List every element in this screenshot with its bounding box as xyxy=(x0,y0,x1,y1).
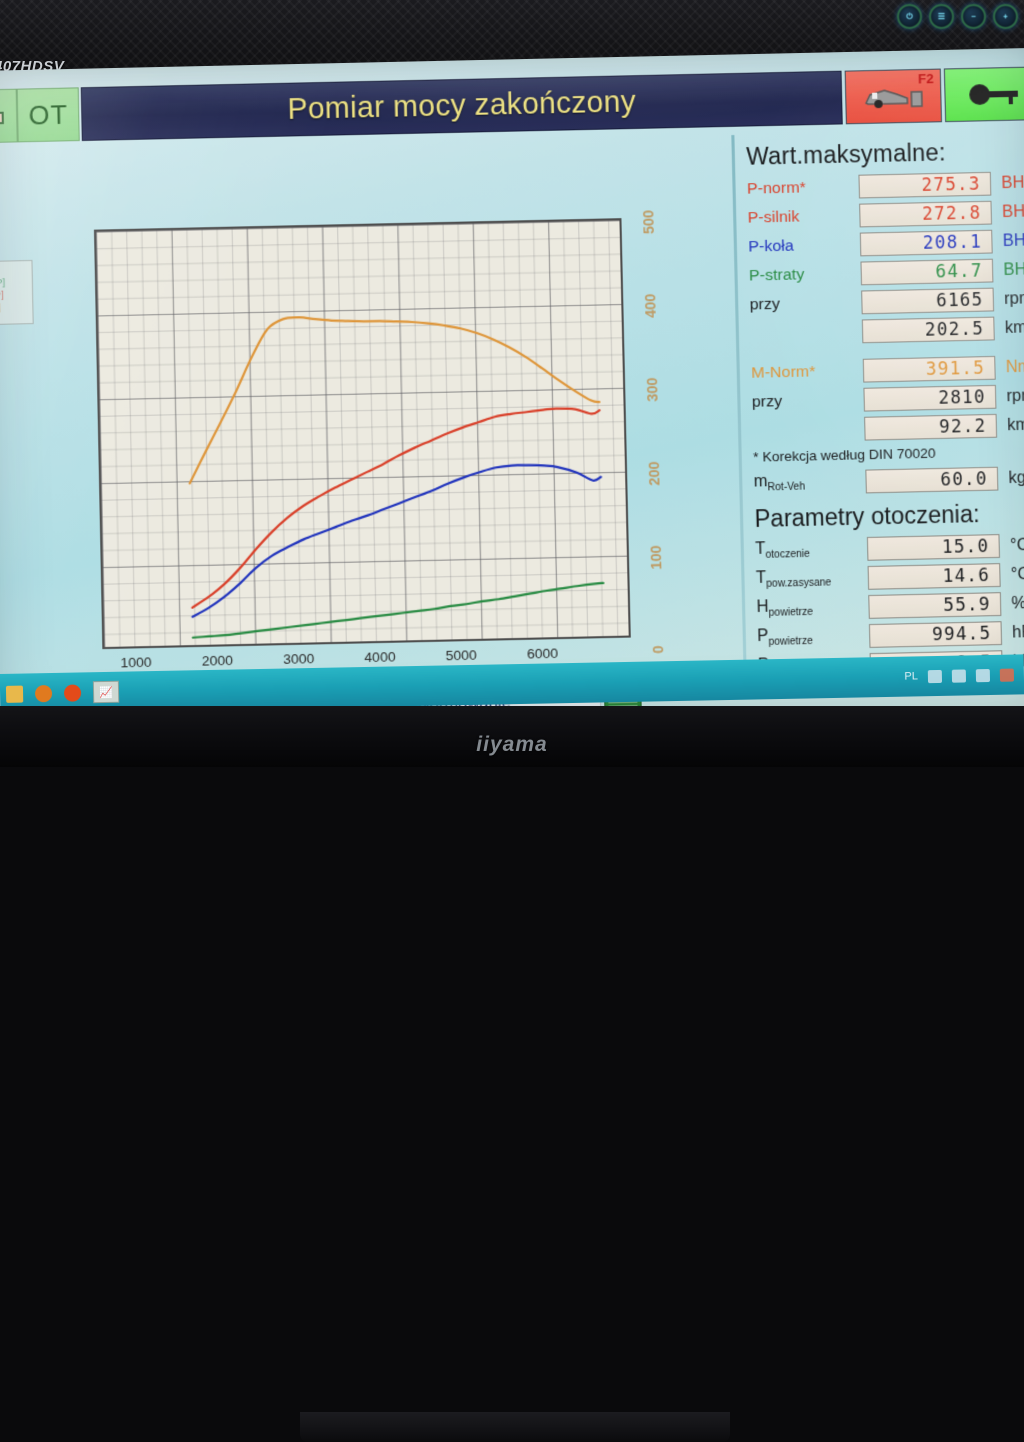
y-tick-400: 400 xyxy=(642,294,659,319)
ambient-row: Totoczenie15.0°C xyxy=(755,532,1024,564)
power-unit: BHP xyxy=(1003,260,1024,279)
torque-label: przy xyxy=(752,390,864,411)
ambient-label: Totoczenie xyxy=(755,538,867,561)
media-icon[interactable] xyxy=(35,685,52,702)
power-row: P-norm*275.3BHP xyxy=(747,170,1024,202)
plus-button[interactable]: + xyxy=(993,4,1018,29)
engine-icon xyxy=(0,89,18,144)
rotating-mass-unit: kg xyxy=(1008,469,1024,488)
ambient-row: Tpow.zasysane14.6°C xyxy=(756,561,1024,593)
rotating-mass-label: mRot-Veh xyxy=(754,471,866,494)
curve-p-koła xyxy=(190,463,604,616)
power-unit: rpm xyxy=(1004,289,1024,308)
ambient-value[interactable]: 15.0 xyxy=(867,534,1000,561)
dyno-plot xyxy=(94,218,631,649)
ambient-row: Ppowietrze994.5hPa xyxy=(757,619,1024,651)
torque-value[interactable]: 391.5 xyxy=(863,356,996,383)
car-icon xyxy=(861,81,926,111)
torque-label: M-Norm* xyxy=(751,361,863,382)
x-tick-1000: 1000 xyxy=(120,654,151,670)
legend-item-p-norm: P-norm [BHP] xyxy=(0,289,28,302)
legend-item-p-straty: P-straty [BHP] xyxy=(0,277,28,290)
ambient-value[interactable]: 55.9 xyxy=(868,592,1001,619)
torque-row: 92.2km/h xyxy=(752,412,1024,444)
signal-icon[interactable] xyxy=(976,668,990,681)
results-panel: Wart.maksymalne: P-norm*275.3BHPP-silnik… xyxy=(731,128,1024,673)
rotating-mass-row: mRot-Veh 60.0 kg xyxy=(753,465,1024,497)
volume-icon[interactable] xyxy=(952,669,966,682)
chart-panel: P-koła [BHP] P-straty [BHP] P-norm [BHP]… xyxy=(0,133,737,719)
key-button[interactable] xyxy=(944,66,1024,122)
torque-value[interactable]: 2810 xyxy=(863,385,996,412)
power-unit: BHP xyxy=(1002,202,1024,221)
power-unit: km/h xyxy=(1005,318,1024,337)
f2-key-label: F2 xyxy=(918,71,934,87)
power-label xyxy=(750,331,862,333)
y-tick-200: 200 xyxy=(646,461,663,486)
y-tick-0: 0 xyxy=(650,645,667,653)
torque-label xyxy=(753,429,865,431)
torque-value[interactable]: 92.2 xyxy=(864,414,997,441)
x-tick-4000: 4000 xyxy=(364,649,395,665)
x-tick-3000: 3000 xyxy=(283,651,314,667)
rotating-mass-value[interactable]: 60.0 xyxy=(865,467,998,494)
osd-button-group[interactable]: ⏻ ☰ − + xyxy=(897,4,1018,29)
torque-row: M-Norm*391.5Nm xyxy=(751,354,1024,386)
x-tick-5000: 5000 xyxy=(446,647,477,663)
menu-button[interactable]: ☰ xyxy=(929,4,954,29)
app-icon[interactable] xyxy=(1000,668,1014,681)
monitor-stand xyxy=(300,1412,730,1442)
ambient-label: Hpowietrze xyxy=(756,597,868,620)
vehicle-button[interactable]: F2 xyxy=(845,69,942,125)
power-value[interactable]: 6165 xyxy=(861,288,994,315)
torque-unit: Nm xyxy=(1006,358,1024,377)
curve-p-straty xyxy=(192,583,604,638)
power-label: P-silnik xyxy=(747,206,859,227)
power-value[interactable]: 272.8 xyxy=(859,201,992,228)
power-row: P-silnik272.8BHP xyxy=(747,199,1024,231)
power-label: P-straty xyxy=(749,264,861,285)
power-label: przy xyxy=(749,293,861,314)
ambient-value[interactable]: 994.5 xyxy=(869,621,1002,648)
folder-icon[interactable] xyxy=(6,685,23,702)
system-tray: PL xyxy=(904,668,1024,683)
torque-rows: M-Norm*391.5Nmprzy2810rpm92.2km/h xyxy=(751,354,1024,444)
ambient-row: Hpowietrze55.9% xyxy=(756,590,1024,622)
x-tick-2000: 2000 xyxy=(202,653,233,669)
power-value[interactable]: 275.3 xyxy=(858,172,991,199)
legend-item-p-kola: P-koła [BHP] xyxy=(0,264,28,277)
y-tick-500: 500 xyxy=(640,210,657,235)
ambient-unit: °C xyxy=(1011,565,1024,584)
ambient-label: Ppowietrze xyxy=(757,626,869,649)
monitor-brand-label: iiyama xyxy=(0,733,1024,757)
x-tick-6000: 6000 xyxy=(527,645,558,661)
ambient-section-title: Parametry otoczenia: xyxy=(754,499,1024,533)
power-label: P-norm* xyxy=(747,177,859,198)
din-correction-note: * Korekcja według DIN 70020 xyxy=(753,443,1024,465)
legend-item-m-norm: M-norm [Nm] xyxy=(0,301,28,314)
results-section-title: Wart.maksymalne: xyxy=(746,137,1024,171)
firefox-icon[interactable] xyxy=(64,684,81,701)
language-indicator[interactable]: PL xyxy=(904,670,918,682)
curve-p-norm xyxy=(188,408,603,608)
torque-row: przy2810rpm xyxy=(752,383,1024,415)
torque-unit: km/h xyxy=(1007,415,1024,434)
y-tick-300: 300 xyxy=(644,377,661,402)
power-row: 202.5km/h xyxy=(750,314,1024,346)
ambient-unit: hPa xyxy=(1012,623,1024,642)
chart-legend: P-koła [BHP] P-straty [BHP] P-norm [BHP]… xyxy=(0,260,34,326)
power-value[interactable]: 64.7 xyxy=(860,259,993,286)
ambient-unit: °C xyxy=(1010,536,1024,555)
page-title: Pomiar mocy zakończony xyxy=(287,85,636,127)
torque-unit: rpm xyxy=(1006,387,1024,406)
power-row: P-straty64.7BHP xyxy=(749,256,1024,288)
ambient-label: Tpow.zasysane xyxy=(756,567,868,590)
power-row: P-koła208.1BHP xyxy=(748,228,1024,260)
power-value[interactable]: 202.5 xyxy=(862,317,995,344)
dyno-app-icon[interactable]: 📈 xyxy=(93,681,119,703)
power-label: P-koła xyxy=(748,235,860,256)
ambient-unit: % xyxy=(1011,594,1024,613)
ambient-value[interactable]: 14.6 xyxy=(868,563,1001,590)
power-value[interactable]: 208.1 xyxy=(860,230,993,257)
power-unit: BHP xyxy=(1003,231,1024,250)
ot-indicator: OT xyxy=(17,87,80,142)
network-icon[interactable] xyxy=(928,669,942,682)
curve-layer xyxy=(96,220,629,648)
key-icon xyxy=(962,80,1023,108)
power-rows: P-norm*275.3BHPP-silnik272.8BHPP-koła208… xyxy=(747,170,1024,347)
monitor-bezel: 407HDSV ⏻ ☰ − + OT Pomiar mocy zakończon… xyxy=(0,0,1024,767)
power-button[interactable]: ⏻ xyxy=(897,4,922,29)
power-unit: BHP xyxy=(1001,173,1024,192)
title-bar: Pomiar mocy zakończony xyxy=(81,71,843,141)
desktop-background: OT Pomiar mocy zakończony F2 xyxy=(0,48,1024,734)
minus-button[interactable]: − xyxy=(961,4,986,29)
y-tick-100: 100 xyxy=(647,545,664,570)
power-row: przy6165rpm xyxy=(749,285,1024,317)
monitor-screen: OT Pomiar mocy zakończony F2 xyxy=(0,48,1024,734)
